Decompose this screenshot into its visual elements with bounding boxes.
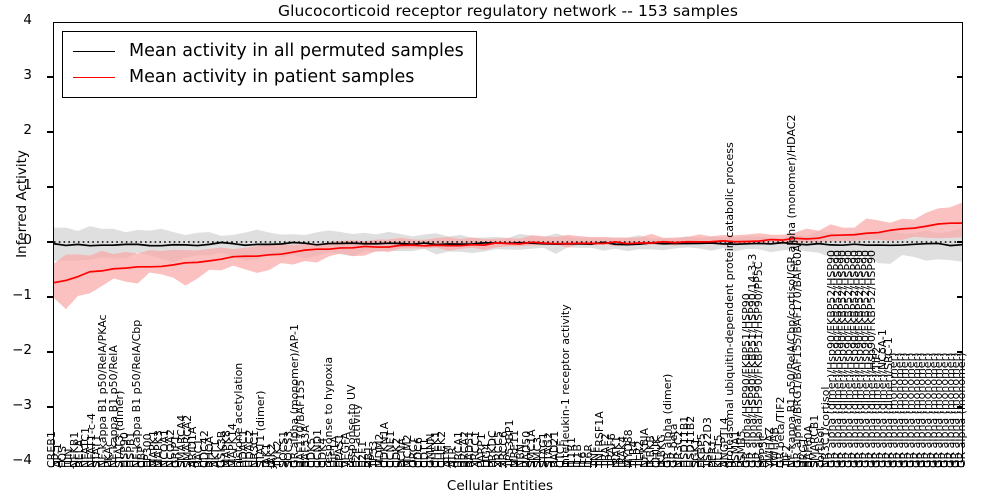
x-tick-mark [245, 462, 246, 467]
x-tick-mark [104, 462, 105, 467]
x-tick-mark [788, 462, 789, 467]
y-tick-label: 3 [0, 69, 32, 83]
x-tick-mark [646, 462, 647, 467]
patient-confidence-band [54, 203, 962, 309]
x-tick-mark [121, 462, 122, 467]
x-tick-mark [403, 462, 404, 467]
y-tick-mark [957, 186, 963, 187]
x-tick-mark [93, 462, 94, 467]
x-tick-mark [726, 462, 727, 467]
x-tick-mark [539, 462, 540, 467]
legend-item-permuted: Mean activity in all permuted samples [73, 38, 464, 64]
x-tick-mark [850, 462, 851, 467]
x-tick-mark [703, 462, 704, 467]
x-tick-mark [183, 462, 184, 467]
x-tick-mark [765, 462, 766, 467]
y-tick-label: −1 [0, 289, 32, 303]
y-tick-mark [957, 241, 963, 242]
y-tick-label: −3 [0, 399, 32, 413]
x-tick-mark [516, 462, 517, 467]
x-tick-mark [901, 462, 902, 467]
x-tick-mark [307, 462, 308, 467]
y-tick-label: 1 [0, 179, 32, 193]
x-tick-mark [567, 462, 568, 467]
x-tick-mark [347, 462, 348, 467]
x-tick-mark [590, 462, 591, 467]
x-tick-mark [341, 462, 342, 467]
x-tick-mark [454, 462, 455, 467]
x-tick-mark [839, 462, 840, 467]
x-tick-mark [194, 462, 195, 467]
x-tick-mark [867, 462, 868, 467]
legend-swatch-permuted [73, 51, 115, 52]
x-tick-mark [149, 462, 150, 467]
x-tick-mark [895, 462, 896, 467]
x-tick-mark [505, 462, 506, 467]
x-tick-mark [319, 462, 320, 467]
x-tick-mark [262, 462, 263, 467]
x-tick-mark [143, 462, 144, 467]
x-tick-mark [533, 462, 534, 467]
x-tick-mark [426, 462, 427, 467]
x-tick-mark [115, 462, 116, 467]
x-tick-mark [98, 462, 99, 467]
x-tick-mark [579, 462, 580, 467]
x-tick-mark [200, 462, 201, 467]
y-tick-label: −2 [0, 344, 32, 358]
x-tick-mark [251, 462, 252, 467]
x-tick-mark [166, 462, 167, 467]
y-tick-mark [47, 296, 53, 297]
x-tick-mark [370, 462, 371, 467]
x-tick-mark [890, 462, 891, 467]
x-tick-mark [714, 462, 715, 467]
x-tick-mark [550, 462, 551, 467]
y-tick-mark [957, 296, 963, 297]
chart-figure: Glucocorticoid receptor regulatory netwo… [0, 0, 1000, 500]
x-tick-mark [415, 462, 416, 467]
legend-item-patient: Mean activity in patient samples [73, 64, 464, 90]
x-tick-mark [217, 462, 218, 467]
x-tick-mark [432, 462, 433, 467]
x-tick-mark [528, 462, 529, 467]
x-tick-mark [861, 462, 862, 467]
x-tick-mark [771, 462, 772, 467]
x-tick-mark [206, 462, 207, 467]
x-tick-mark [873, 462, 874, 467]
x-tick-mark [160, 462, 161, 467]
y-tick-mark [957, 406, 963, 407]
x-tick-mark [624, 462, 625, 467]
x-tick-mark [511, 462, 512, 467]
x-tick-mark [353, 462, 354, 467]
x-axis-label: Cellular Entities [0, 478, 1000, 494]
x-tick-mark [70, 462, 71, 467]
legend-swatch-patient [73, 77, 115, 78]
x-tick-mark [918, 462, 919, 467]
x-tick-mark [641, 462, 642, 467]
x-tick-mark [754, 462, 755, 467]
x-tick-mark [782, 462, 783, 467]
x-tick-mark [256, 462, 257, 467]
x-tick-mark [709, 462, 710, 467]
y-tick-mark [47, 351, 53, 352]
x-tick-mark [743, 462, 744, 467]
x-tick-mark [324, 462, 325, 467]
x-tick-mark [697, 462, 698, 467]
x-tick-mark [64, 462, 65, 467]
y-tick-label: 4 [0, 14, 32, 28]
x-tick-mark [110, 462, 111, 467]
x-tick-mark [132, 462, 133, 467]
x-tick-mark [946, 462, 947, 467]
x-tick-mark [460, 462, 461, 467]
x-tick-mark [601, 462, 602, 467]
x-tick-mark [409, 462, 410, 467]
x-tick-mark [573, 462, 574, 467]
x-tick-mark [906, 462, 907, 467]
x-tick-mark [398, 462, 399, 467]
x-tick-mark [748, 462, 749, 467]
x-tick-mark [556, 462, 557, 467]
y-tick-mark [47, 241, 53, 242]
x-tick-mark [138, 462, 139, 467]
x-tick-mark [155, 462, 156, 467]
x-tick-mark [584, 462, 585, 467]
x-tick-mark [500, 462, 501, 467]
x-tick-mark [358, 462, 359, 467]
x-tick-mark [957, 462, 958, 467]
x-tick-mark [799, 462, 800, 467]
x-tick-mark [285, 462, 286, 467]
x-tick-mark [669, 462, 670, 467]
x-tick-mark [776, 462, 777, 467]
x-tick-mark [392, 462, 393, 467]
x-tick-mark [375, 462, 376, 467]
y-tick-mark [47, 186, 53, 187]
x-tick-mark [963, 462, 964, 467]
x-tick-mark [240, 462, 241, 467]
x-tick-mark [386, 462, 387, 467]
x-tick-mark [234, 462, 235, 467]
chart-title: Glucocorticoid receptor regulatory netwo… [53, 2, 963, 20]
x-tick-mark [228, 462, 229, 467]
legend-label-permuted: Mean activity in all permuted samples [129, 41, 464, 61]
x-tick-mark [330, 462, 331, 467]
x-tick-mark [607, 462, 608, 467]
x-tick-mark [680, 462, 681, 467]
x-tick-mark [952, 462, 953, 467]
x-tick-mark [635, 462, 636, 467]
x-tick-mark [59, 462, 60, 467]
x-tick-mark [172, 462, 173, 467]
x-tick-mark [658, 462, 659, 467]
y-tick-label: −4 [0, 454, 32, 468]
chart-legend: Mean activity in all permuted samples Me… [62, 31, 477, 98]
x-tick-mark [596, 462, 597, 467]
x-tick-mark [805, 462, 806, 467]
x-tick-mark [844, 462, 845, 467]
x-tick-mark [296, 462, 297, 467]
x-tick-mark [471, 462, 472, 467]
y-tick-mark [47, 131, 53, 132]
x-tick-mark [336, 462, 337, 467]
x-tick-mark [562, 462, 563, 467]
x-tick-mark [545, 462, 546, 467]
x-tick-mark [940, 462, 941, 467]
y-tick-mark [47, 76, 53, 77]
y-tick-mark [957, 76, 963, 77]
y-tick-label: 0 [0, 234, 32, 248]
x-tick-mark [420, 462, 421, 467]
x-tick-mark [737, 462, 738, 467]
x-tick-mark [488, 462, 489, 467]
x-tick-mark [223, 462, 224, 467]
x-tick-mark [211, 462, 212, 467]
y-tick-mark [957, 351, 963, 352]
x-tick-mark [437, 462, 438, 467]
x-tick-mark [630, 462, 631, 467]
x-tick-mark [483, 462, 484, 467]
x-tick-mark [833, 462, 834, 467]
x-tick-mark [477, 462, 478, 467]
x-tick-mark [663, 462, 664, 467]
x-tick-mark [53, 462, 54, 467]
x-tick-mark [923, 462, 924, 467]
x-tick-mark [290, 462, 291, 467]
legend-label-patient: Mean activity in patient samples [129, 67, 414, 87]
x-tick-mark [126, 462, 127, 467]
x-tick-mark [302, 462, 303, 467]
x-tick-mark [822, 462, 823, 467]
x-tick-mark [522, 462, 523, 467]
x-tick-mark [189, 462, 190, 467]
x-tick-mark [675, 462, 676, 467]
x-tick-mark [81, 462, 82, 467]
x-tick-mark [731, 462, 732, 467]
x-tick-mark [912, 462, 913, 467]
x-tick-mark [652, 462, 653, 467]
x-tick-mark [856, 462, 857, 467]
x-tick-mark [720, 462, 721, 467]
x-tick-mark [87, 462, 88, 467]
x-tick-mark [466, 462, 467, 467]
x-tick-mark [810, 462, 811, 467]
x-tick-mark [364, 462, 365, 467]
x-tick-mark [443, 462, 444, 467]
x-tick-mark [793, 462, 794, 467]
x-tick-mark [618, 462, 619, 467]
x-tick-mark [816, 462, 817, 467]
x-tick-mark [686, 462, 687, 467]
x-tick-mark [884, 462, 885, 467]
x-tick-mark [878, 462, 879, 467]
x-tick-mark [381, 462, 382, 467]
y-tick-mark [47, 406, 53, 407]
x-tick-mark [827, 462, 828, 467]
x-tick-mark [760, 462, 761, 467]
x-tick-mark [692, 462, 693, 467]
y-tick-mark [957, 131, 963, 132]
x-tick-mark [76, 462, 77, 467]
x-tick-mark [313, 462, 314, 467]
x-tick-mark [449, 462, 450, 467]
y-tick-label: 2 [0, 124, 32, 138]
x-tick-mark [929, 462, 930, 467]
x-tick-mark [494, 462, 495, 467]
x-tick-mark [279, 462, 280, 467]
x-tick-mark [268, 462, 269, 467]
x-tick-mark [273, 462, 274, 467]
x-tick-mark [935, 462, 936, 467]
x-tick-mark [177, 462, 178, 467]
x-tick-mark [613, 462, 614, 467]
